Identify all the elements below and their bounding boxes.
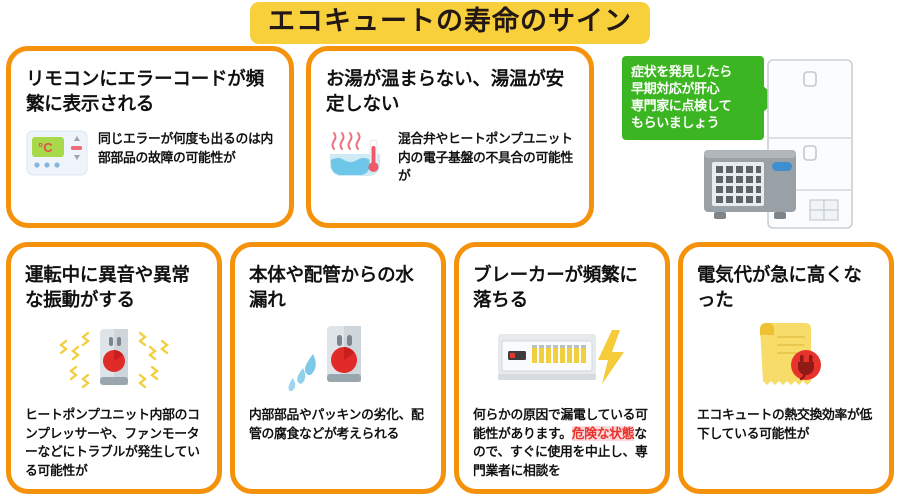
card-description: ヒートポンプユニット内部のコンプレッサーや、ファンモーターなどにトラブルが発生し… — [25, 406, 203, 480]
card-description: 内部部品やパッキンの劣化、配管の腐食などが考えられる — [249, 406, 427, 443]
electricity-bill-icon — [697, 318, 875, 396]
card-abnormal-noise[interactable]: 運転中に異音や異常な振動がする — [6, 242, 222, 494]
svg-text:°C: °C — [38, 140, 53, 155]
card-heading: ブレーカーが頻繁に落ちる — [473, 263, 651, 312]
card-breaker-trip[interactable]: ブレーカーが頻繁に落ちる — [454, 242, 670, 494]
card-error-code[interactable]: リモコンにエラーコードが頻繁に表示される °C 同じエラーが何度も出るのは内部部… — [6, 46, 294, 228]
card-heading: 運転中に異音や異常な振動がする — [25, 263, 203, 312]
remote-controller-icon: °C — [26, 130, 88, 176]
bath-thermometer-icon — [326, 130, 388, 180]
card-water-not-hot[interactable]: お湯が温まらない、湯温が安定しない 混合弁やヒートポンプ — [306, 46, 594, 228]
card-description: 同じエラーが何度も出るのは内部部品の故障の可能性が — [98, 130, 274, 167]
card-description: 何らかの原因で漏電している可能性があります。危険な状態なので、すぐに使用を中止し… — [473, 406, 651, 480]
heatpump-unit — [704, 150, 796, 219]
vibrating-unit-icon — [25, 318, 203, 396]
card-electricity-bill[interactable]: 電気代が急に高くなった エコキュートの熱交換効率が低下している可 — [678, 242, 894, 494]
card-heading: 電気代が急に高くなった — [697, 263, 875, 312]
ecocute-illustration — [700, 50, 896, 236]
breaker-panel-icon — [473, 318, 651, 396]
danger-highlight: 危険な状態 — [572, 426, 635, 441]
card-heading: お湯が温まらない、湯温が安定しない — [326, 67, 574, 116]
page-title: エコキュートの寿命のサイン — [250, 2, 650, 44]
card-heading: リモコンにエラーコードが頻繁に表示される — [26, 67, 274, 116]
card-description: 混合弁やヒートポンプユニット内の電子基盤の不具合の可能性が — [398, 130, 574, 186]
card-water-leak[interactable]: 本体や配管からの水漏れ 内部部品やパッキンの劣化、配管の腐食などが考えられる — [230, 242, 446, 494]
card-body: 混合弁やヒートポンプユニット内の電子基盤の不具合の可能性が — [326, 130, 574, 186]
title-bar: エコキュートの寿命のサイン — [0, 0, 900, 46]
card-description: エコキュートの熱交換効率が低下している可能性が — [697, 406, 875, 443]
top-card-row: リモコンにエラーコードが頻繁に表示される °C 同じエラーが何度も出るのは内部部… — [0, 46, 900, 238]
leaking-unit-icon — [249, 318, 427, 396]
card-body: °C 同じエラーが何度も出るのは内部部品の故障の可能性が — [26, 130, 274, 176]
bottom-card-row: 運転中に異音や異常な振動がする — [0, 238, 900, 496]
card-heading: 本体や配管からの水漏れ — [249, 263, 427, 312]
